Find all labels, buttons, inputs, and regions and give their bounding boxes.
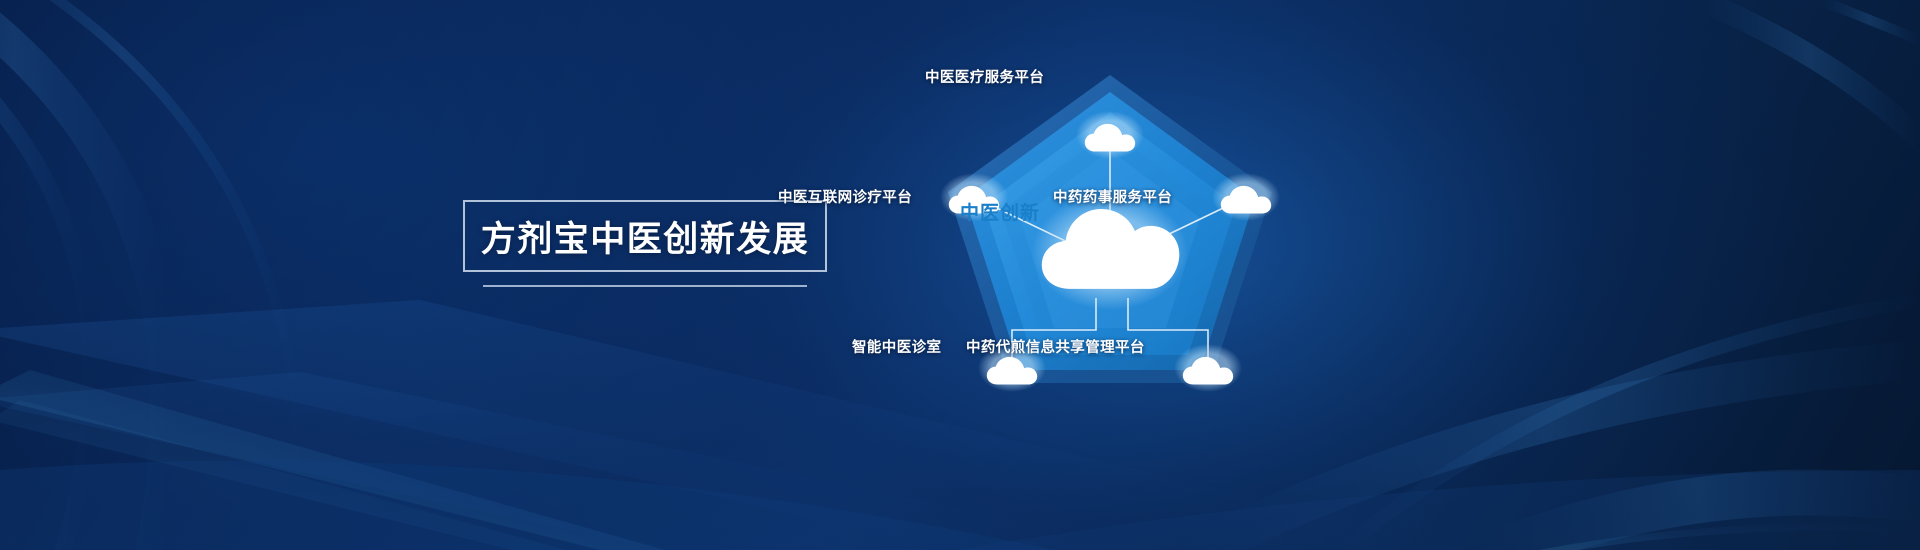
vertex-cloud-right (1212, 173, 1280, 221)
banner: 方剂宝中医创新发展 (0, 0, 1920, 550)
title-underline (483, 285, 807, 287)
node-label-left: 中医互联网诊疗平台 (778, 186, 912, 207)
center-node-label: 中医创新 (940, 198, 1060, 225)
node-label-top: 中医医疗服务平台 (925, 66, 1044, 87)
pentagon-diagram: 中医创新 中医医疗服务平台 中药药事服务平台 中药代煎信息共享管理平台 智能中医… (800, 30, 1420, 430)
node-label-bottom-right: 中药代煎信息共享管理平台 (966, 336, 1145, 357)
node-label-right: 中药药事服务平台 (1053, 186, 1172, 207)
vertex-cloud-bottom-right (1174, 344, 1242, 392)
page-title: 方剂宝中医创新发展 (481, 211, 810, 262)
vertex-cloud-top (1076, 111, 1144, 159)
pentagon-graphic (800, 30, 1420, 430)
node-label-bottom-left: 智能中医诊室 (852, 336, 941, 357)
page-title-box: 方剂宝中医创新发展 (463, 200, 827, 272)
title-block: 方剂宝中医创新发展 (463, 200, 827, 272)
